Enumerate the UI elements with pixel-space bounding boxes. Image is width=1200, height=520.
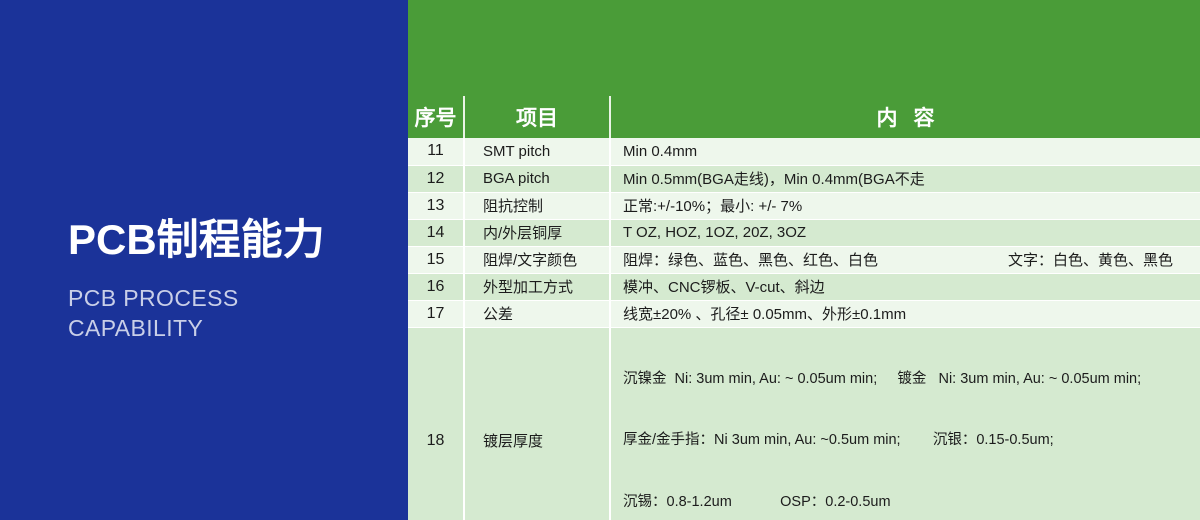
- row-content: 正常:+/-10%；最小: +/- 7%: [610, 192, 1200, 219]
- row-item: 外型加工方式: [464, 273, 610, 300]
- column-header-content-char-2: 容: [914, 107, 935, 130]
- row-no: 11: [408, 138, 464, 165]
- row-no: 18: [408, 327, 464, 520]
- page-subtitle-line-2: CAPABILITY: [68, 314, 398, 343]
- row-item: 内/外层铜厚: [464, 219, 610, 246]
- row-item: 镀层厚度: [464, 327, 610, 520]
- table-row: 18 镀层厚度 沉镍金 Ni: 3um min, Au: ~ 0.05um mi…: [408, 327, 1200, 520]
- row-content: Min 0.4mm: [610, 138, 1200, 165]
- table-header: 序号 项目 内容: [408, 96, 1200, 138]
- table-row: 15 阻焊/文字颜色 阻焊：绿色、蓝色、黑色、红色、白色 文字：白色、黄色、黑色: [408, 246, 1200, 273]
- table-row: 12 BGA pitch Min 0.5mm(BGA走线)，Min 0.4mm(…: [408, 165, 1200, 192]
- row-item: SMT pitch: [464, 138, 610, 165]
- page-subtitle-english: PCB PROCESS CAPABILITY: [68, 284, 398, 343]
- table-row: 14 内/外层铜厚 T OZ, HOZ, 1OZ, 20Z, 3OZ: [408, 219, 1200, 246]
- row-item: 公差: [464, 300, 610, 327]
- row-item: 阻焊/文字颜色: [464, 246, 610, 273]
- row-no: 15: [408, 246, 464, 273]
- row-content-line-1: 沉镍金 Ni: 3um min, Au: ~ 0.05um min; 镀金 Ni…: [623, 369, 1200, 390]
- column-header-content: 内容: [610, 96, 1200, 138]
- row-content-line-2: 厚金/金手指：Ni 3um min, Au: ~0.5um min; 沉银：0.…: [623, 430, 1200, 451]
- table-row: 13 阻抗控制 正常:+/-10%；最小: +/- 7%: [408, 192, 1200, 219]
- row-no: 13: [408, 192, 464, 219]
- table-row: 11 SMT pitch Min 0.4mm: [408, 138, 1200, 165]
- row-content: 线宽±20% 、孔径± 0.05mm、外形±0.1mm: [610, 300, 1200, 327]
- row-no: 14: [408, 219, 464, 246]
- row-content: T OZ, HOZ, 1OZ, 20Z, 3OZ: [610, 219, 1200, 246]
- title-block: PCB制程能力 PCB PROCESS CAPABILITY: [68, 218, 398, 343]
- row-item: BGA pitch: [464, 165, 610, 192]
- row-content-legend-color: 文字：白色、黄色、黑色: [1008, 249, 1173, 270]
- page-title-chinese: PCB制程能力: [68, 218, 398, 262]
- column-header-item: 项目: [464, 96, 610, 138]
- row-content: 模冲、CNC锣板、V-cut、斜边: [610, 273, 1200, 300]
- table-row: 17 公差 线宽±20% 、孔径± 0.05mm、外形±0.1mm: [408, 300, 1200, 327]
- row-item: 阻抗控制: [464, 192, 610, 219]
- page-subtitle-line-1: PCB PROCESS: [68, 284, 398, 313]
- pcb-process-capability-table: 序号 项目 内容 11 SMT pitch Min 0.4mm 12 BGA p…: [408, 96, 1200, 520]
- column-header-no: 序号: [408, 96, 464, 138]
- row-no: 12: [408, 165, 464, 192]
- row-no: 16: [408, 273, 464, 300]
- spec-table-container: 序号 项目 内容 11 SMT pitch Min 0.4mm 12 BGA p…: [408, 96, 1200, 443]
- row-content-solder-mask: 阻焊：绿色、蓝色、黑色、红色、白色: [623, 249, 878, 270]
- table-body: 11 SMT pitch Min 0.4mm 12 BGA pitch Min …: [408, 138, 1200, 520]
- row-content: 沉镍金 Ni: 3um min, Au: ~ 0.05um min; 镀金 Ni…: [610, 327, 1200, 520]
- column-header-content-char-1: 内: [877, 107, 898, 130]
- row-content-line-3: 沉锡：0.8-1.2um OSP：0.2-0.5um: [623, 492, 1200, 513]
- table-header-row: 序号 项目 内容: [408, 96, 1200, 138]
- left-blue-panel: PCB制程能力 PCB PROCESS CAPABILITY: [0, 0, 408, 520]
- row-content: Min 0.5mm(BGA走线)，Min 0.4mm(BGA不走: [610, 165, 1200, 192]
- row-content: 阻焊：绿色、蓝色、黑色、红色、白色 文字：白色、黄色、黑色: [610, 246, 1200, 273]
- table-row: 16 外型加工方式 模冲、CNC锣板、V-cut、斜边: [408, 273, 1200, 300]
- row-no: 17: [408, 300, 464, 327]
